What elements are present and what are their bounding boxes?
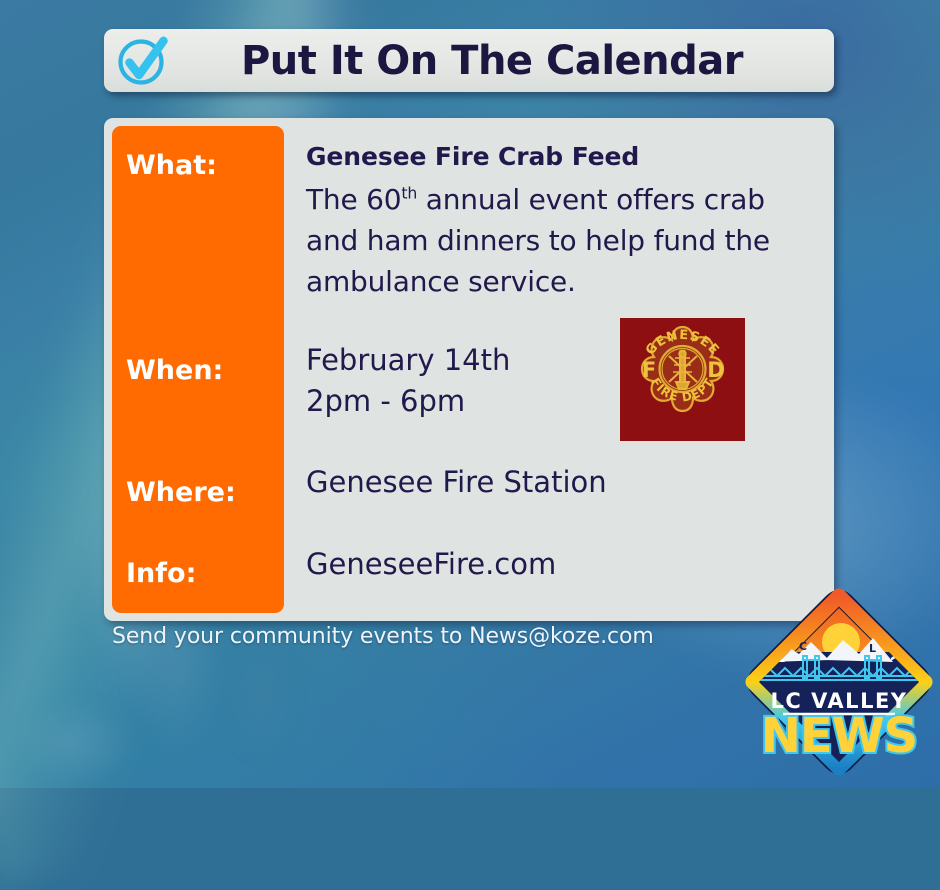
- event-details-card: What: When: Where: Info: Genesee Fire Cr…: [104, 118, 834, 621]
- check-circle-icon: [116, 34, 170, 88]
- event-info-link[interactable]: GeneseeFire.com: [306, 550, 556, 579]
- svg-text:D: D: [707, 358, 724, 382]
- submission-caption: Send your community events to News@koze.…: [112, 624, 654, 649]
- svg-text:C: C: [799, 640, 807, 653]
- svg-text:L: L: [869, 642, 876, 655]
- lc-valley-news-logo: C L LC VALLEY NEWS: [741, 584, 937, 780]
- label-column: What: When: Where: Info:: [112, 126, 284, 613]
- event-date: February 14th: [306, 346, 510, 375]
- ordinal-suffix: th: [401, 184, 417, 203]
- genesee-fire-dept-logo: GENESEE FIRE DEPT F D: [620, 318, 745, 441]
- event-description-prefix: The 60: [306, 183, 401, 216]
- event-description: The 60th annual event offers crab and ha…: [306, 180, 796, 303]
- row-label-what: What:: [126, 152, 217, 179]
- event-location: Genesee Fire Station: [306, 468, 607, 497]
- page-title: Put It On The Calendar: [176, 41, 820, 81]
- header-banner: Put It On The Calendar: [104, 29, 834, 92]
- row-label-when: When:: [126, 357, 223, 384]
- row-label-where: Where:: [126, 479, 236, 506]
- row-label-info: Info:: [126, 560, 196, 587]
- event-time: 2pm - 6pm: [306, 387, 465, 416]
- event-title: Genesee Fire Crab Feed: [306, 144, 639, 169]
- svg-text:NEWS: NEWS: [761, 708, 917, 764]
- svg-text:F: F: [642, 358, 656, 382]
